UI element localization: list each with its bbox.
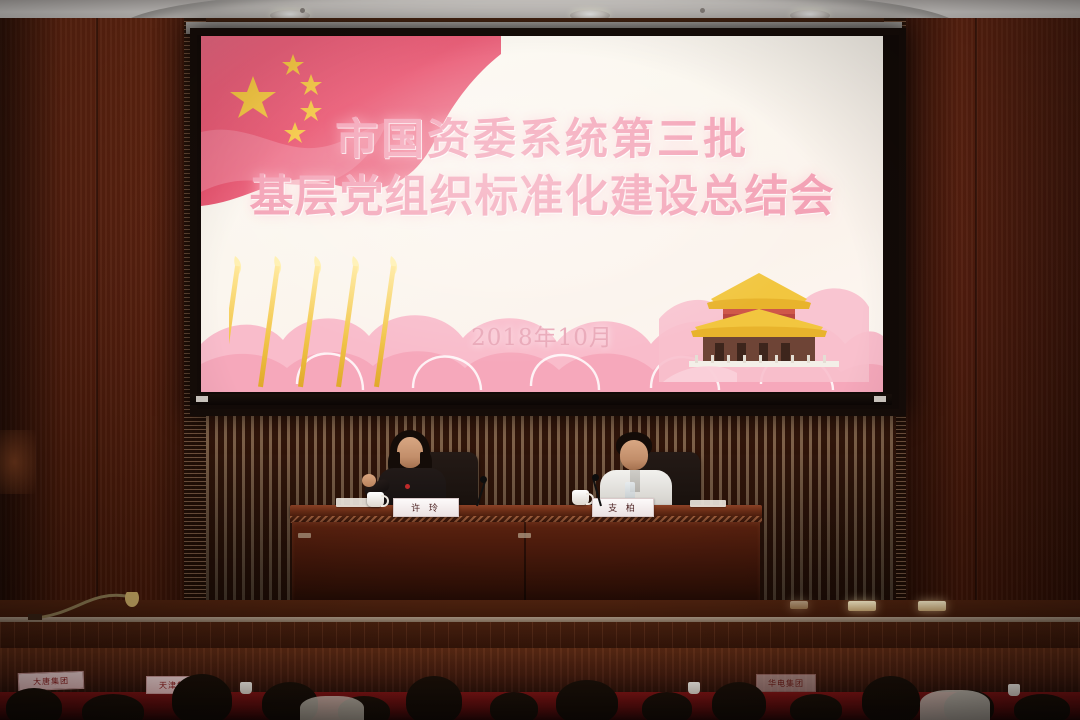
audience-member [1014, 694, 1070, 720]
slide-title-line-1: 市国资委系统第三批 [201, 114, 883, 168]
audience-member [712, 682, 766, 720]
microphone-icon [592, 474, 599, 481]
audience-member [82, 694, 144, 720]
document-paper [690, 500, 726, 507]
audience-member [556, 680, 618, 720]
audience-shoulders [300, 696, 364, 720]
name-placard-left: 许 玲 [393, 498, 459, 517]
screen-mount-foot [874, 396, 886, 402]
audience-mug [1008, 684, 1020, 696]
tiananmen-gate-icon [659, 247, 869, 382]
audience-member [862, 676, 920, 720]
floor-light-icon [790, 601, 808, 609]
audience-placard-text: 大唐集团 [33, 675, 69, 687]
microphone-icon [480, 476, 487, 483]
foreground-object [0, 430, 36, 494]
audience-member [790, 694, 842, 720]
screen-bottom-bar [190, 394, 892, 405]
projection-screen: 市国资委系统第三批 基层党组织标准化建设总结会 2018年10月 [201, 36, 883, 392]
floor-microphone-stand [28, 592, 146, 620]
name-placard-right: 支 柏 [592, 498, 654, 517]
tea-mug [367, 492, 384, 507]
audience-member [642, 692, 692, 720]
ceiling-fixing-screw [300, 8, 305, 13]
right-wall-panel [896, 18, 1080, 630]
floor-light-icon [918, 601, 946, 611]
screen-mount-foot [196, 396, 208, 402]
slide-title: 市国资委系统第三批 基层党组织标准化建设总结会 [201, 114, 883, 225]
raised-hand [362, 474, 376, 487]
audience-mug [688, 682, 700, 694]
lapel-badge [405, 484, 410, 489]
wall-panel-seam [975, 18, 977, 630]
audience-placard: 华电集团 [756, 674, 816, 692]
wall-panel-seam [96, 18, 98, 630]
audience-member [490, 692, 538, 720]
floor-light-icon [848, 601, 876, 611]
table-plate [298, 533, 311, 538]
left-wall-panel [0, 18, 206, 630]
table-plate [518, 533, 531, 538]
photo-scene: 市国资委系统第三批 基层党组织标准化建设总结会 2018年10月 [0, 0, 1080, 720]
slide-date: 2018年10月 [201, 318, 883, 352]
audience-shoulders [920, 690, 990, 720]
audience-mug [240, 682, 252, 694]
name-placard-right-text: 支 柏 [608, 501, 638, 514]
name-placard-left-text: 许 玲 [411, 501, 441, 514]
audience-member [406, 676, 462, 720]
audience-member [172, 674, 232, 720]
audience-placard-text: 华电集团 [768, 678, 804, 689]
slide-title-line-2: 基层党组织标准化建设总结会 [201, 168, 883, 225]
audience-area: 大唐集团 天津集团 华电集团 [0, 648, 1080, 720]
audience-member [6, 688, 62, 720]
ceiling-fixing-screw [700, 8, 705, 13]
tea-mug [572, 490, 589, 505]
face [620, 440, 648, 470]
